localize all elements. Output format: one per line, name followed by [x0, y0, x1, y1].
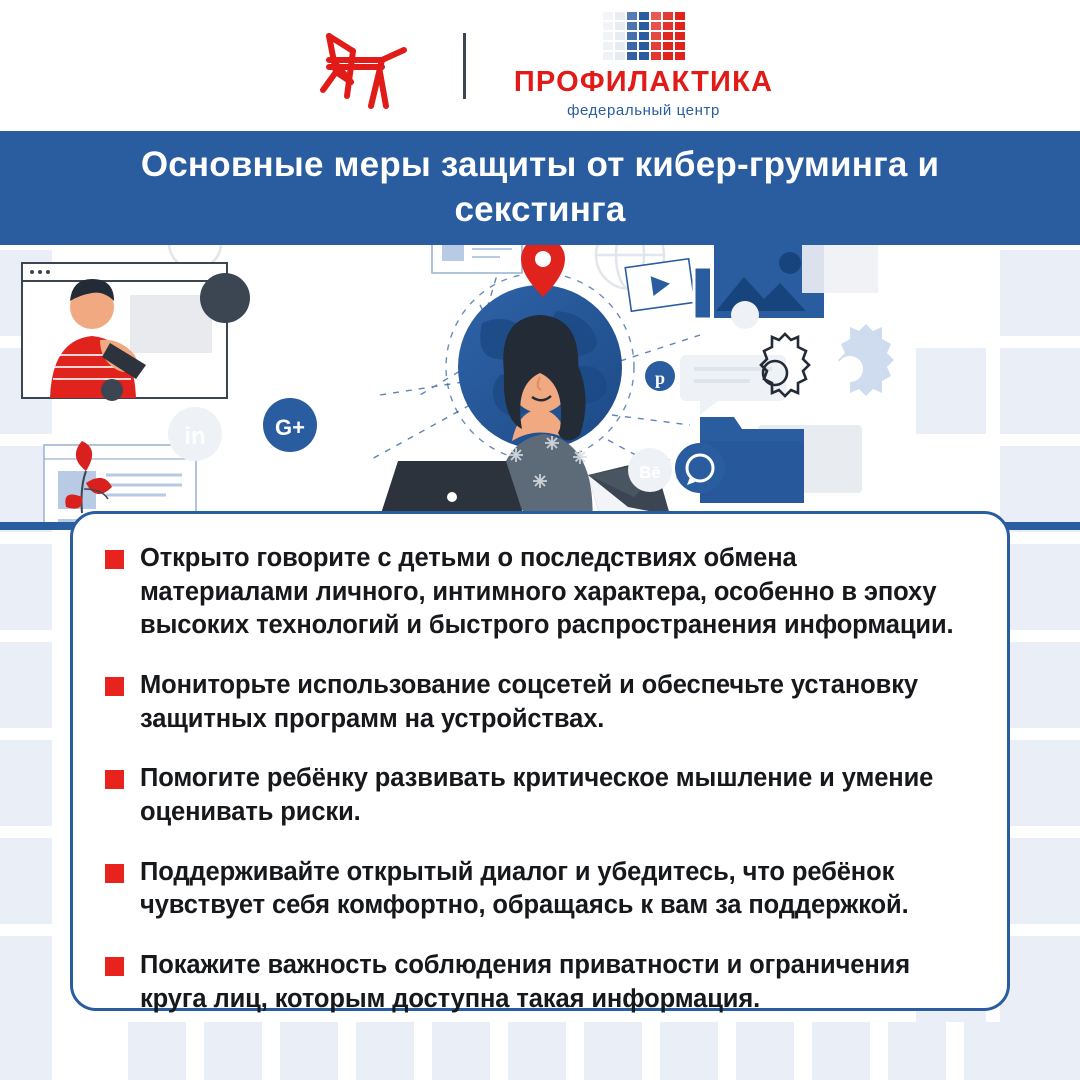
svg-text:G+: G+ — [275, 415, 305, 440]
flag-cell — [627, 42, 637, 50]
infographic-poster: ПРОФИЛАКТИКА федеральный центр Основные … — [0, 0, 1080, 1080]
background-tile — [508, 1022, 566, 1080]
list-item-text: Мониторьте использование соцсетей и обес… — [140, 669, 967, 736]
flag-cell — [639, 22, 649, 30]
list-item-text: Покажите важность соблюдения приватности… — [140, 949, 967, 1016]
flag-cell — [651, 42, 661, 50]
flag-cell — [675, 12, 685, 20]
title-banner: Основные меры защиты от кибер-груминга и… — [0, 131, 1080, 245]
flag-cell — [663, 42, 673, 50]
flag-cell — [615, 52, 625, 60]
list-item-text: Открыто говорите с детьми о последствиях… — [140, 542, 967, 643]
flag-cell — [651, 52, 661, 60]
background-tile — [128, 1022, 186, 1080]
background-tile — [0, 642, 52, 728]
bullet-square-icon — [105, 550, 124, 569]
background-tile — [0, 838, 52, 924]
bullet-square-icon — [105, 677, 124, 696]
flag-cell — [639, 12, 649, 20]
bullet-square-icon — [105, 957, 124, 976]
svg-text:in: in — [184, 423, 205, 450]
flag-cell — [651, 22, 661, 30]
background-tile — [0, 544, 52, 630]
header-bar: ПРОФИЛАКТИКА федеральный центр — [0, 0, 1080, 131]
background-tile — [280, 1022, 338, 1080]
background-tile — [204, 1022, 262, 1080]
flag-cell — [603, 42, 613, 50]
list-item: Покажите важность соблюдения приватности… — [105, 949, 967, 1016]
background-tile — [964, 1022, 1022, 1080]
header-divider — [463, 33, 466, 99]
flag-cell — [627, 52, 637, 60]
bullet-square-icon — [105, 770, 124, 789]
background-tile — [660, 1022, 718, 1080]
flag-cell — [663, 32, 673, 40]
background-tile — [356, 1022, 414, 1080]
list-item: Мониторьте использование соцсетей и обес… — [105, 669, 967, 736]
background-tile — [1000, 740, 1080, 826]
background-tile — [1000, 838, 1080, 924]
brand-name: ПРОФИЛАКТИКА — [514, 68, 773, 97]
flag-cell — [663, 22, 673, 30]
background-tile — [1000, 642, 1080, 728]
recommendations-card: Открыто говорите с детьми о последствиях… — [70, 511, 1010, 1011]
flag-cell — [651, 32, 661, 40]
list-item-text: Помогите ребёнку развивать критическое м… — [140, 762, 967, 829]
background-tile — [1000, 1022, 1080, 1080]
flag-cell — [639, 52, 649, 60]
flag-cell — [675, 42, 685, 50]
flag-cell — [663, 12, 673, 20]
hero-illustration: in G+ p Bē — [0, 245, 1080, 530]
flag-cell — [627, 22, 637, 30]
background-tile — [432, 1022, 490, 1080]
flag-cell — [627, 32, 637, 40]
list-item: Открыто говорите с детьми о последствиях… — [105, 542, 967, 643]
flag-cell — [675, 32, 685, 40]
list-item: Помогите ребёнку развивать критическое м… — [105, 762, 967, 829]
list-item-text: Поддерживайте открытый диалог и убедитес… — [140, 856, 967, 923]
flag-cell — [603, 52, 613, 60]
svg-text:Bē: Bē — [639, 463, 661, 482]
flag-cell — [663, 52, 673, 60]
background-tile — [0, 936, 52, 1022]
flag-cell — [639, 42, 649, 50]
flag-cell — [615, 32, 625, 40]
list-item: Поддерживайте открытый диалог и убедитес… — [105, 856, 967, 923]
recommendations-list: Открыто говорите с детьми о последствиях… — [105, 542, 967, 1016]
flag-cell — [603, 22, 613, 30]
svg-text:p: p — [655, 368, 665, 388]
flag-cell — [615, 42, 625, 50]
flag-cell — [639, 32, 649, 40]
flag-cell — [615, 12, 625, 20]
flag-cell — [603, 32, 613, 40]
page-title: Основные меры защиты от кибер-груминга и… — [100, 143, 980, 233]
background-tile — [1000, 936, 1080, 1022]
flag-cell — [675, 52, 685, 60]
flag-cell — [603, 12, 613, 20]
flag-cell — [615, 22, 625, 30]
flag-pixel-grid-icon — [603, 12, 685, 60]
background-tile — [0, 740, 52, 826]
brand-lockup: ПРОФИЛАКТИКА федеральный центр — [514, 12, 773, 120]
background-tile — [812, 1022, 870, 1080]
background-tile — [888, 1022, 946, 1080]
flag-cell — [627, 12, 637, 20]
flag-cell — [651, 12, 661, 20]
brand-subtitle: федеральный центр — [567, 103, 720, 120]
flag-cell — [675, 22, 685, 30]
background-tile — [736, 1022, 794, 1080]
chair-line-art-logo-icon — [307, 20, 415, 112]
background-tile — [0, 1022, 52, 1080]
background-tile — [1000, 544, 1080, 630]
background-tile — [584, 1022, 642, 1080]
bullet-square-icon — [105, 864, 124, 883]
